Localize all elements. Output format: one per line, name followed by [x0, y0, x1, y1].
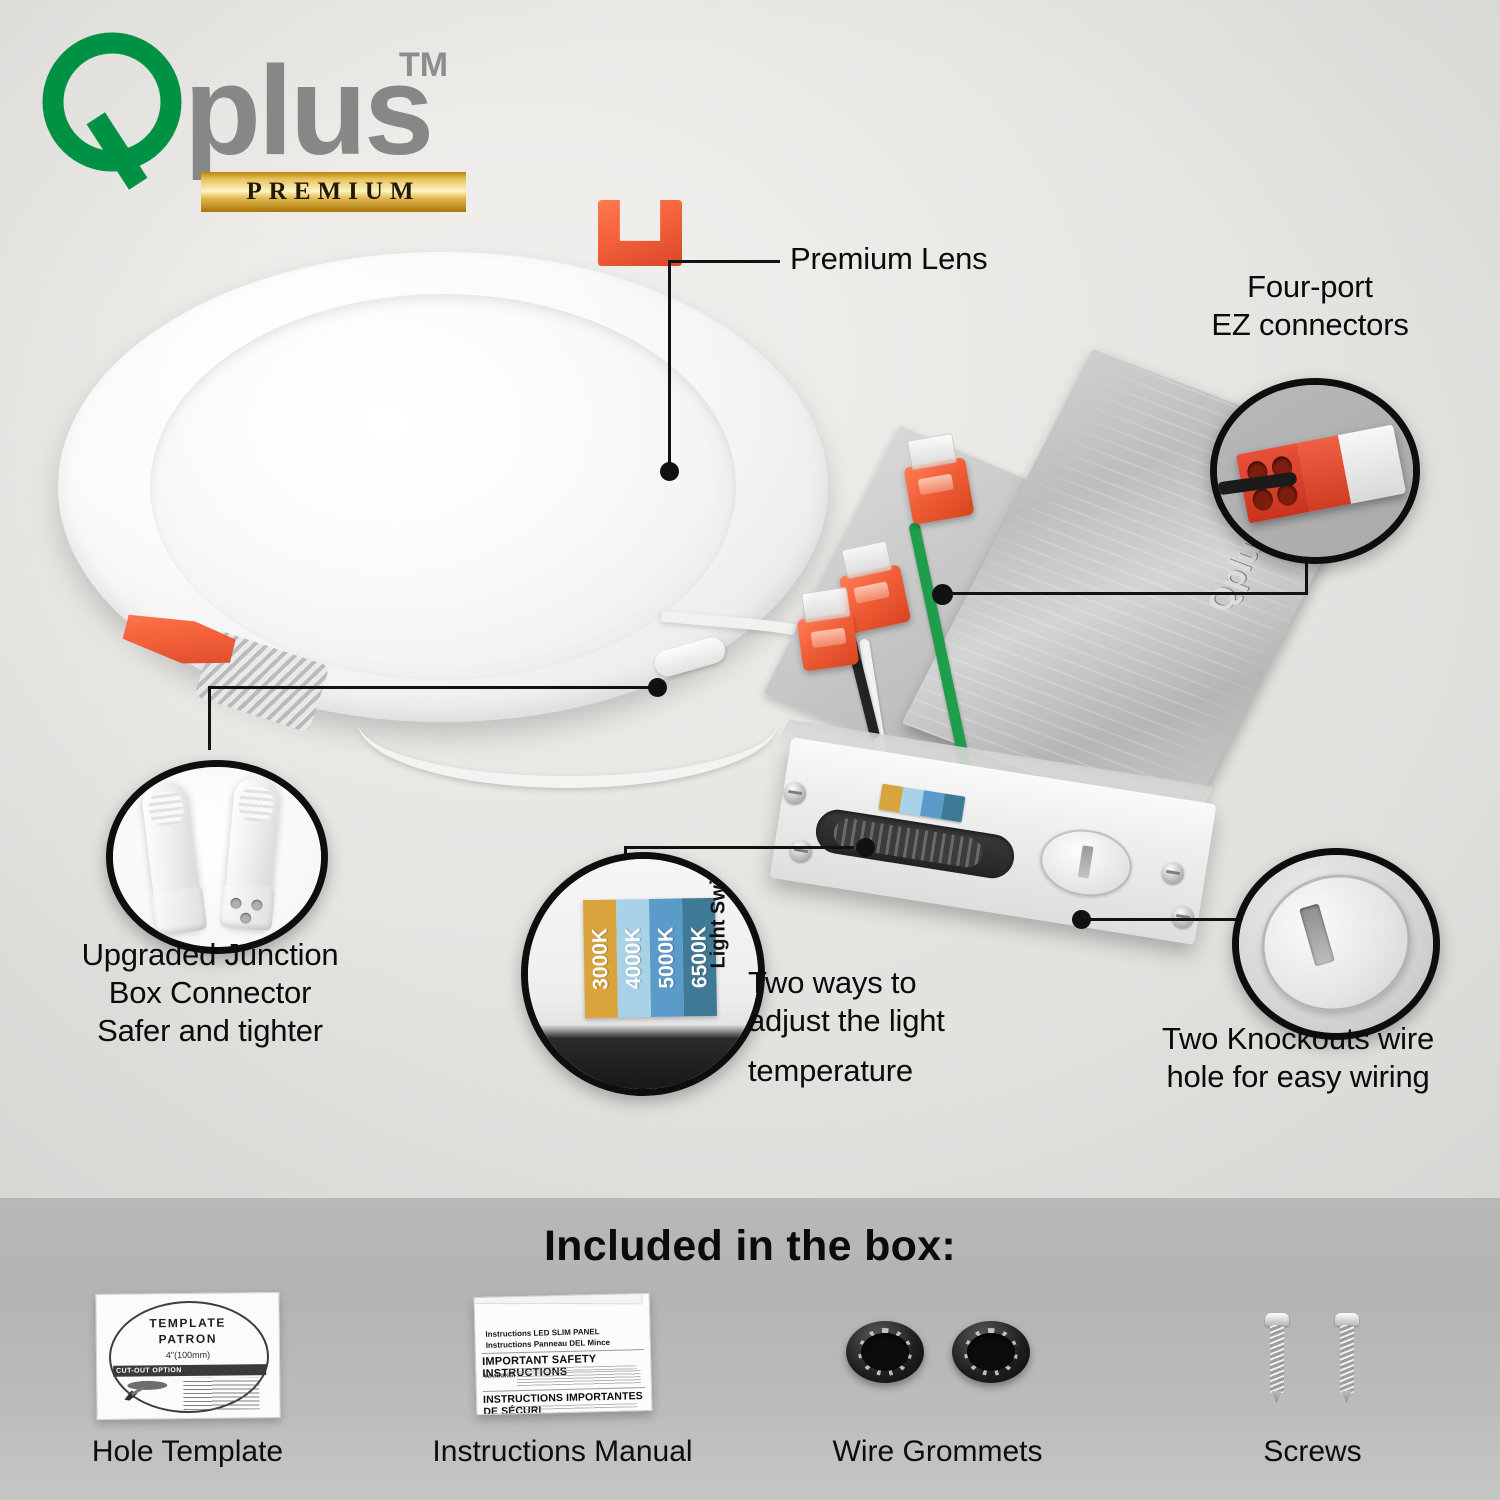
connector-lever: [853, 581, 890, 604]
callout-ez-connectors: Four-port EZ connectors: [1130, 268, 1490, 344]
ez-connector-upper: [903, 457, 974, 525]
temp-label-4000k: 4000K: [621, 927, 646, 989]
manual-line-fr: Instructions Panneau DEL Mince: [485, 1338, 610, 1350]
hole-template-icon: TEMPLATE PATRON 4"(100mm) CUT-OUT OPTION: [0, 1283, 375, 1428]
temp-band-6500k: [941, 793, 966, 822]
temp-band-5000k-detail: 5000K: [649, 898, 684, 1017]
connector-port-3: [1251, 487, 1275, 512]
logo-q-icon: [34, 28, 200, 194]
temperature-band-strip-detail: 3000K 4000K 5000K 6500K: [583, 898, 717, 1018]
wire-grommet-left: [846, 1321, 924, 1383]
callout-ez-line1: Four-port: [1130, 268, 1490, 306]
connector-socket-1: [230, 897, 242, 909]
callout-temp-line3: temperature: [748, 1052, 1028, 1090]
callout-junction-line1: Upgraded Junction: [55, 936, 365, 974]
leader-temp-horizontal: [624, 846, 854, 849]
callout-knockouts-line2: hole for easy wiring: [1128, 1058, 1468, 1096]
leader-ez-horizontal: [948, 592, 1308, 595]
anchor-dot-junction-connector: [648, 678, 667, 697]
callout-temp-line1: Two ways to: [748, 964, 1028, 1002]
included-item-hole-template: TEMPLATE PATRON 4"(100mm) CUT-OUT OPTION…: [0, 1283, 375, 1493]
manual-line-en: Instructions LED SLIM PANEL: [485, 1327, 599, 1339]
callout-junction-line2: Box Connector: [55, 974, 365, 1012]
template-instruction-lines: [183, 1377, 259, 1410]
connector-grip-rings: [147, 789, 185, 827]
template-title-line2: PATRON: [96, 1331, 278, 1347]
temp-label-3000k: 3000K: [588, 928, 613, 990]
included-label-screws: Screws: [1125, 1435, 1500, 1469]
anchor-dot-ez-connector: [932, 584, 953, 605]
ez-connector-lower: [797, 612, 860, 671]
junction-connector-female: [223, 775, 282, 928]
magnifier-ez-connector: [1210, 378, 1420, 564]
callout-temperature: Two ways to adjust the light temperature: [748, 964, 1028, 1089]
magnifier-temperature-switch: 3000K 4000K 5000K 6500K Light Switch: [521, 852, 765, 1096]
leader-premium-lens-vertical: [668, 262, 671, 472]
magnifier-junction-connector: [106, 760, 328, 954]
logo-plus-text: plus: [184, 48, 431, 174]
anchor-dot-premium-lens: [660, 462, 679, 481]
callout-junction-line3: Safer and tighter: [55, 1012, 365, 1050]
connector-clear-body: [1338, 424, 1406, 503]
knockout-disc-detail: [1245, 857, 1427, 1029]
leader-premium-lens-horizontal: [668, 260, 780, 263]
temp-band-4000k-detail: 4000K: [616, 899, 651, 1018]
ez-connector-detail: [1236, 424, 1406, 523]
callout-knockouts: Two Knockouts wire hole for easy wiring: [1128, 1020, 1468, 1096]
light-switch-label: Light Switch: [708, 852, 731, 969]
infographic-canvas: plus TM PREMIUM Qplus: [0, 0, 1500, 1500]
leader-junction-vertical: [208, 686, 211, 750]
magnifier-knockout: [1232, 848, 1440, 1040]
connector-male-tip: [150, 886, 207, 936]
connector-female-tip: [219, 883, 275, 931]
callout-junction-connector: Upgraded Junction Box Connector Safer an…: [55, 936, 365, 1049]
wire-grommet-right: [952, 1321, 1030, 1383]
leader-junction-horizontal: [208, 686, 658, 689]
included-label-wire-grommets: Wire Grommets: [750, 1435, 1125, 1469]
template-title-line1: TEMPLATE: [96, 1315, 278, 1331]
temp-label-5000k: 5000K: [654, 927, 679, 989]
template-size-label: 4"(100mm): [96, 1349, 278, 1361]
connector-socket-3: [240, 912, 252, 924]
callout-temp-line2: adjust the light: [748, 1002, 1028, 1040]
logo-premium-badge: PREMIUM: [201, 172, 466, 212]
anchor-dot-knockout: [1072, 910, 1091, 929]
included-in-box-title: Included in the box:: [0, 1222, 1500, 1271]
screw-icon: [1125, 1283, 1500, 1428]
screw-left: [1269, 1313, 1285, 1401]
callout-knockouts-line1: Two Knockouts wire: [1128, 1020, 1468, 1058]
screw-right: [1339, 1313, 1355, 1401]
template-cutout-diagram-icon: [121, 1380, 171, 1401]
included-items-row: TEMPLATE PATRON 4"(100mm) CUT-OUT OPTION…: [0, 1283, 1500, 1493]
included-item-instructions-manual: Instructions LED SLIM PANEL Instructions…: [375, 1283, 750, 1493]
connector-lever: [810, 628, 846, 649]
template-cutout-bar: CUT-OUT OPTION: [113, 1364, 266, 1377]
connector-grip-rings: [238, 786, 275, 823]
manual-body-text-2: [516, 1369, 640, 1386]
temp-band-3000k-detail: 3000K: [583, 900, 618, 1019]
connector-lever: [918, 474, 954, 496]
led-downlight-product: [58, 252, 828, 752]
instructions-manual-icon: Instructions LED SLIM PANEL Instructions…: [375, 1283, 750, 1428]
included-item-screws: Screws: [1125, 1283, 1500, 1493]
wire-grommet-icon: [750, 1283, 1125, 1428]
anchor-dot-temp-switch: [856, 838, 875, 857]
included-label-hole-template: Hole Template: [0, 1435, 375, 1469]
callout-premium-lens: Premium Lens: [790, 240, 987, 278]
logo-tm-mark: TM: [399, 46, 448, 85]
connector-socket-2: [251, 899, 263, 911]
included-item-wire-grommets: Wire Grommets: [750, 1283, 1125, 1493]
premium-lens-surface: [168, 308, 716, 666]
callout-ez-line2: EZ connectors: [1130, 306, 1490, 344]
junction-connector-male: [140, 779, 204, 933]
manual-warning-label: WARNING:: [484, 1373, 515, 1380]
brand-logo: plus TM PREMIUM: [34, 24, 464, 202]
included-label-instructions-manual: Instructions Manual: [375, 1435, 750, 1469]
